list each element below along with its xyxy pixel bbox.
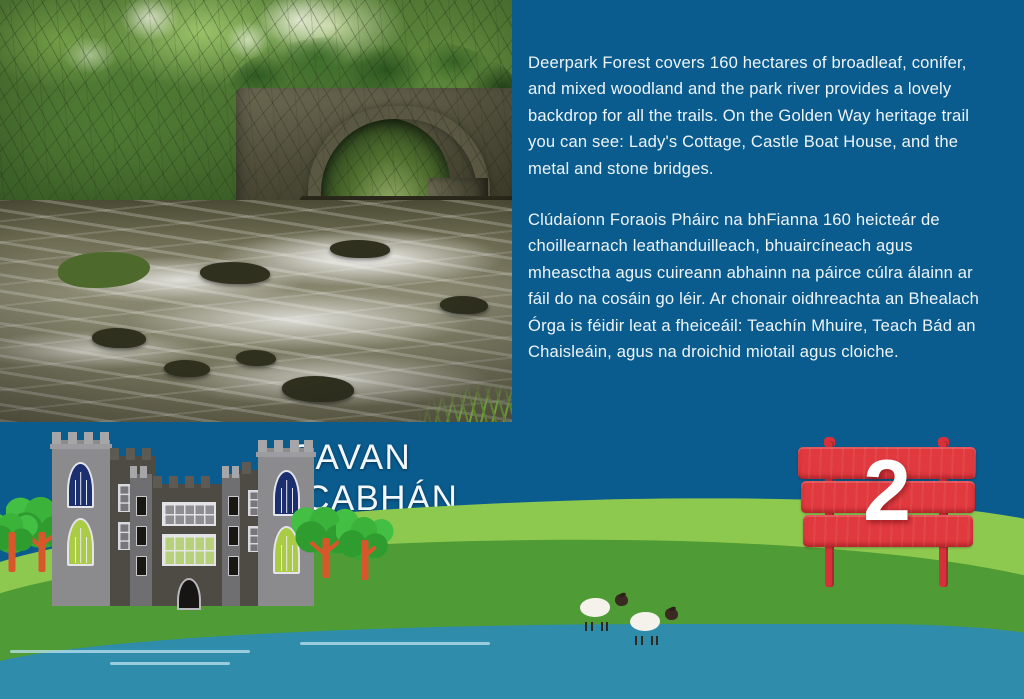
paragraph-english: Deerpark Forest covers 160 hectares of b… — [528, 50, 980, 182]
window-mullion — [281, 545, 282, 571]
poster-canvas: Deerpark Forest covers 160 hectares of b… — [0, 0, 1024, 699]
wide-window — [162, 502, 216, 526]
arrow-slit — [136, 556, 147, 576]
sheep — [580, 594, 624, 624]
wide-window-green — [162, 534, 216, 566]
sheep-head — [665, 608, 678, 620]
battlement — [126, 448, 135, 460]
window-mullion — [80, 472, 82, 506]
window-mullion — [75, 480, 76, 505]
battlement — [140, 466, 147, 478]
sheep-leg — [591, 622, 593, 631]
tree-trunk — [9, 532, 16, 572]
arrow-slit — [136, 526, 147, 546]
sheep-body — [630, 612, 660, 631]
arrow-slit — [228, 496, 239, 516]
arrow-slit — [136, 496, 147, 516]
sheep — [630, 608, 674, 638]
battlement — [142, 448, 151, 460]
trail-number-sign[interactable]: 2 — [798, 437, 976, 587]
photo-vignette — [0, 0, 512, 422]
arrow-slit — [228, 526, 239, 546]
window-mullion — [281, 488, 282, 513]
sheep-leg — [585, 622, 587, 631]
tree-trunk — [323, 538, 330, 578]
battlement — [274, 440, 283, 452]
sheep-leg — [635, 636, 637, 645]
window-mullion — [286, 536, 288, 571]
sheep-ear — [619, 592, 627, 598]
river-bridge-photo — [0, 0, 512, 422]
battlement — [222, 466, 229, 478]
window-mullion — [86, 480, 87, 505]
sheep-leg — [656, 636, 658, 645]
tree-foliage — [0, 510, 38, 555]
battlement — [68, 432, 77, 444]
window-mullion — [75, 537, 76, 563]
tower-ledge — [256, 452, 316, 457]
battlement — [52, 432, 61, 444]
castle-illustration — [22, 426, 332, 606]
window-mullion — [86, 537, 87, 563]
battlement — [169, 476, 178, 488]
tower-ledge — [50, 444, 112, 449]
battlement — [290, 440, 299, 452]
sheep-body — [580, 598, 610, 617]
battlement — [185, 476, 194, 488]
arrow-slit — [228, 556, 239, 576]
tree-trunk — [362, 540, 369, 580]
sheep-leg — [606, 622, 608, 631]
water-ripple — [300, 642, 490, 645]
water-ripple — [10, 650, 250, 653]
window-mullion — [80, 528, 82, 563]
window-mullion — [286, 480, 288, 514]
battlement — [232, 466, 239, 478]
sheep-leg — [641, 636, 643, 645]
battlement — [110, 448, 119, 460]
water-ripple — [110, 662, 230, 665]
battlement — [304, 440, 313, 452]
tree — [336, 514, 394, 580]
sheep-ear — [669, 606, 677, 612]
battlement — [201, 476, 210, 488]
battlement — [153, 476, 162, 488]
battlement — [130, 466, 137, 478]
sheep-leg — [651, 636, 653, 645]
sign-number: 2 — [798, 443, 976, 539]
sheep-leg — [601, 622, 603, 631]
tree — [0, 510, 38, 572]
battlement — [242, 462, 251, 474]
battlement — [84, 432, 93, 444]
battlement — [100, 432, 109, 444]
battlement — [258, 440, 267, 452]
sheep-head — [615, 594, 628, 606]
description-panel: Deerpark Forest covers 160 hectares of b… — [528, 50, 980, 390]
paragraph-irish: Clúdaíonn Foraois Pháirc na bhFianna 160… — [528, 207, 980, 365]
